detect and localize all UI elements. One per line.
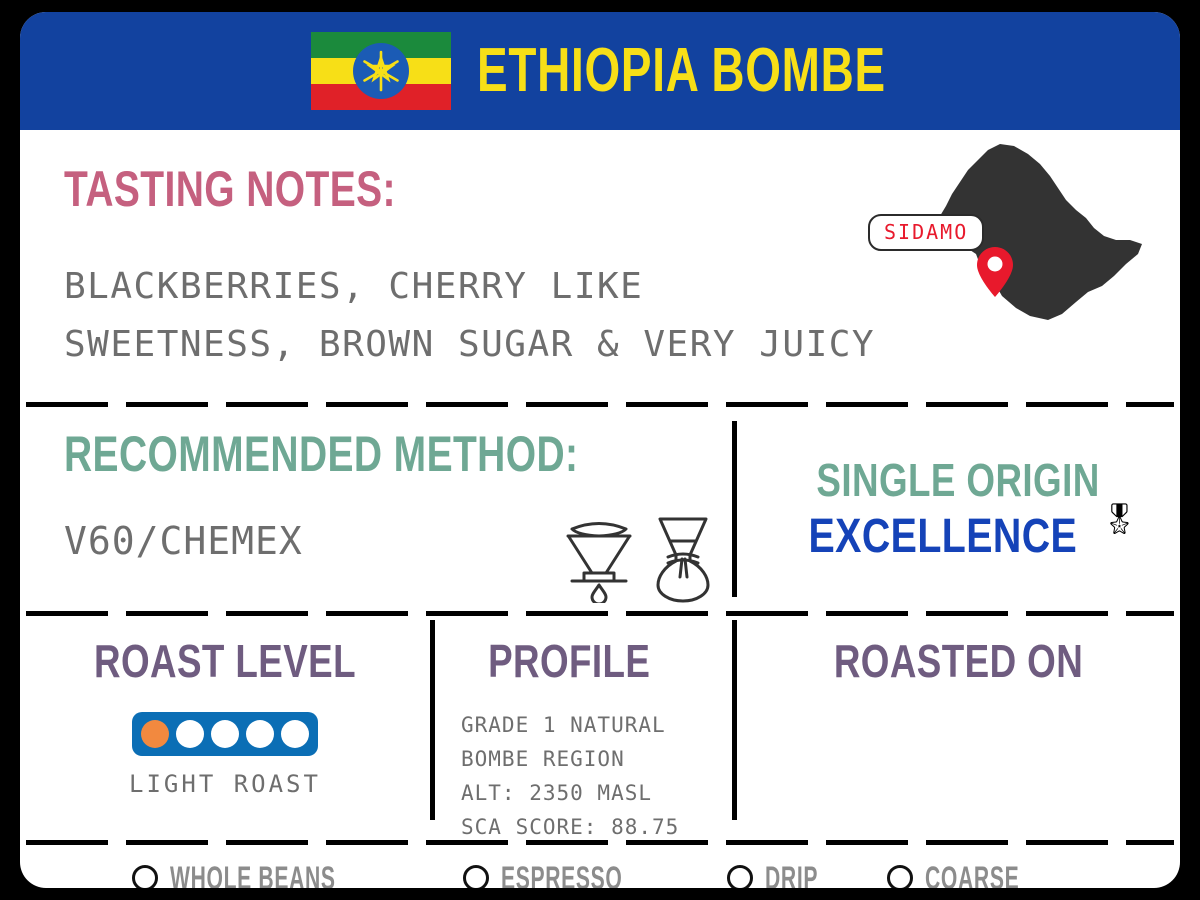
roast-level-section: ROAST LEVEL LIGHT ROAST xyxy=(20,616,430,840)
region-label: SIDAMO xyxy=(868,214,984,251)
profile-line-grade: GRADE 1 NATURAL xyxy=(461,708,732,742)
badge-line-2-row: EXCELLENCE 🎖 xyxy=(779,513,1139,561)
profile-list: GRADE 1 NATURAL BOMBE REGION ALT: 2350 M… xyxy=(461,708,732,844)
profile-line-altitude: ALT: 2350 MASL xyxy=(461,776,732,810)
recommended-method-section: RECOMMENDED METHOD: V60/CHEMEX xyxy=(20,407,732,611)
method-badge-row: RECOMMENDED METHOD: V60/CHEMEX xyxy=(20,407,1180,611)
profile-heading: PROFILE xyxy=(488,638,705,684)
grind-option-whole-beans[interactable]: WHOLE BEANS xyxy=(132,862,421,888)
roast-dot-4[interactable] xyxy=(246,720,274,748)
grind-option-espresso[interactable]: ESPRESSO xyxy=(463,862,685,888)
grind-option-drip[interactable]: DRIP xyxy=(727,862,845,888)
grind-option-label: ESPRESSO xyxy=(501,862,622,888)
roasted-on-value[interactable] xyxy=(737,744,1180,774)
flag-star-disc xyxy=(353,43,409,99)
roasted-on-section: ROASTED ON xyxy=(737,616,1180,840)
profile-section: PROFILE GRADE 1 NATURAL BOMBE REGION ALT… xyxy=(435,616,732,840)
badge-line-1: SINGLE ORIGIN xyxy=(817,457,1100,503)
page-title: ETHIOPIA BOMBE xyxy=(477,40,886,102)
rosette-medal-icon: 🎖 xyxy=(1100,505,1138,535)
grind-option-label: WHOLE BEANS xyxy=(170,862,336,888)
origin-map: SIDAMO xyxy=(890,136,1150,346)
roasted-on-heading: ROASTED ON xyxy=(781,638,1135,684)
roast-dot-5[interactable] xyxy=(281,720,309,748)
profile-line-region: BOMBE REGION xyxy=(461,742,732,776)
radio-circle-icon[interactable] xyxy=(132,865,158,888)
grind-option-coarse[interactable]: COARSE xyxy=(887,862,1068,888)
badge-line-2: EXCELLENCE xyxy=(808,513,1077,561)
tasting-notes-heading: TASTING NOTES: xyxy=(64,164,908,214)
grind-options-row: WHOLE BEANS ESPRESSO DRIP COARSE xyxy=(20,845,1180,888)
radio-circle-icon[interactable] xyxy=(463,865,489,888)
brew-method-icons xyxy=(562,511,714,603)
roast-level-heading: ROAST LEVEL xyxy=(61,638,389,684)
roast-dot-2[interactable] xyxy=(176,720,204,748)
recommended-method-heading: RECOMMENDED METHOD: xyxy=(64,429,569,479)
single-origin-badge: SINGLE ORIGIN EXCELLENCE 🎖 xyxy=(737,407,1180,611)
roast-level-meter[interactable] xyxy=(132,712,318,756)
details-row: ROAST LEVEL LIGHT ROAST PROFILE GRADE 1 … xyxy=(20,616,1180,840)
radio-circle-icon[interactable] xyxy=(887,865,913,888)
coffee-label-card: ETHIOPIA BOMBE TASTING NOTES: BLACKBERRI… xyxy=(20,12,1180,888)
radio-circle-icon[interactable] xyxy=(727,865,753,888)
roast-dot-1[interactable] xyxy=(141,720,169,748)
roast-dot-3[interactable] xyxy=(211,720,239,748)
location-pin-icon xyxy=(972,244,1018,300)
tasting-notes-section: TASTING NOTES: BLACKBERRIES, CHERRY LIKE… xyxy=(20,130,1180,402)
grind-option-label: DRIP xyxy=(765,862,818,888)
profile-line-sca-score: SCA SCORE: 88.75 xyxy=(461,810,732,844)
label-header: ETHIOPIA BOMBE xyxy=(20,12,1180,130)
v60-dripper-icon xyxy=(562,511,636,603)
grind-option-label: COARSE xyxy=(925,862,1019,888)
roast-level-caption: LIGHT ROAST xyxy=(20,770,430,798)
ethiopia-flag-icon xyxy=(311,32,451,110)
chemex-icon xyxy=(652,511,714,603)
